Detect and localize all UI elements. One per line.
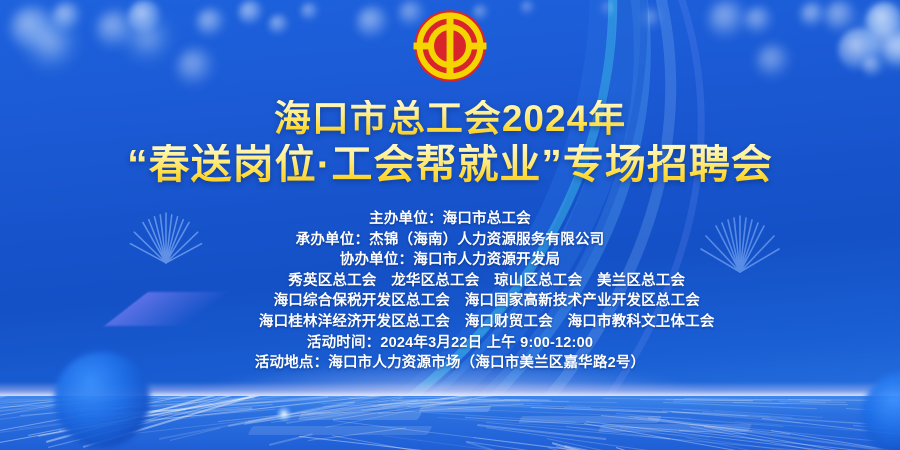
bokeh-dot bbox=[862, 56, 884, 78]
detail-row-organizer: 主办单位：海口市总工会 bbox=[0, 209, 900, 230]
bokeh-flare bbox=[120, 10, 174, 64]
detail-row-event-time: 活动时间：2024年3月22日 上午 9:00-12:00 bbox=[0, 333, 900, 354]
poster-details: 主办单位：海口市总工会 承办单位：杰锦（海南）人力资源服务有限公司 协办单位：海… bbox=[0, 209, 900, 374]
bokeh-dot bbox=[884, 34, 900, 68]
bokeh-flare bbox=[852, 4, 900, 70]
ground-light-slab bbox=[247, 426, 432, 435]
coorganizer-line-2: 海口综合保税开发区总工会 海口国家高新技术产业开发区总工会 bbox=[0, 291, 900, 312]
bokeh-dot bbox=[356, 6, 390, 40]
bokeh-dot bbox=[708, 0, 748, 40]
ground-light-slab bbox=[518, 416, 662, 423]
detail-row-event-place: 活动地点：海口市人力资源市场（海口市美兰区嘉华路2号） bbox=[0, 353, 900, 374]
bokeh-dot bbox=[756, 44, 792, 80]
bokeh-dot bbox=[838, 28, 882, 72]
bokeh-dot bbox=[196, 8, 226, 38]
bokeh-dot bbox=[600, 0, 618, 18]
bokeh-dot bbox=[744, 6, 774, 36]
recruitment-poster: 海口市总工会2024年 “春送岗位·工会帮就业”专场招聘会 主办单位：海口市总工… bbox=[0, 0, 900, 450]
bokeh-dot bbox=[520, 0, 536, 16]
bokeh-dot bbox=[128, 0, 162, 34]
ground-light-slab bbox=[418, 406, 491, 412]
bokeh-dot bbox=[238, 0, 264, 26]
ground-light-slab bbox=[298, 412, 423, 420]
bokeh-flare bbox=[884, 18, 900, 70]
bokeh-dot bbox=[800, 2, 826, 28]
bokeh-dot bbox=[52, 2, 82, 32]
title-line-2: “春送岗位·工会帮就业”专场招聘会 bbox=[0, 144, 900, 186]
bokeh-dot bbox=[268, 14, 290, 36]
horizon-spark bbox=[276, 406, 292, 422]
poster-headline: 海口市总工会2024年 “春送岗位·工会帮就业”专场招聘会 bbox=[0, 100, 900, 186]
bokeh-dot bbox=[640, 8, 662, 30]
bokeh-dot bbox=[176, 48, 216, 88]
coorganizer-line-3: 海口桂林洋经济开发区总工会 海口财贸工会 海口市教科文卫体工会 bbox=[0, 312, 900, 333]
union-emblem-icon bbox=[412, 8, 488, 84]
detail-row-undertaker: 承办单位：杰锦（海南）人力资源服务有限公司 bbox=[0, 230, 900, 251]
bokeh-dot bbox=[300, 2, 320, 22]
bokeh-dot bbox=[10, 6, 56, 52]
acftu-union-emblem bbox=[412, 8, 488, 84]
bokeh-dot bbox=[96, 10, 136, 50]
bokeh-flare bbox=[20, 12, 80, 72]
bokeh-dot bbox=[824, 0, 858, 34]
bokeh-dot bbox=[866, 2, 900, 40]
ground-light-slab bbox=[598, 424, 753, 432]
title-line-1: 海口市总工会2024年 bbox=[0, 100, 900, 138]
detail-row-coorganizer: 协办单位：海口市人力资源开发局 bbox=[0, 250, 900, 271]
coorganizer-line-1: 秀英区总工会 龙华区总工会 琼山区总工会 美兰区总工会 bbox=[0, 271, 900, 292]
